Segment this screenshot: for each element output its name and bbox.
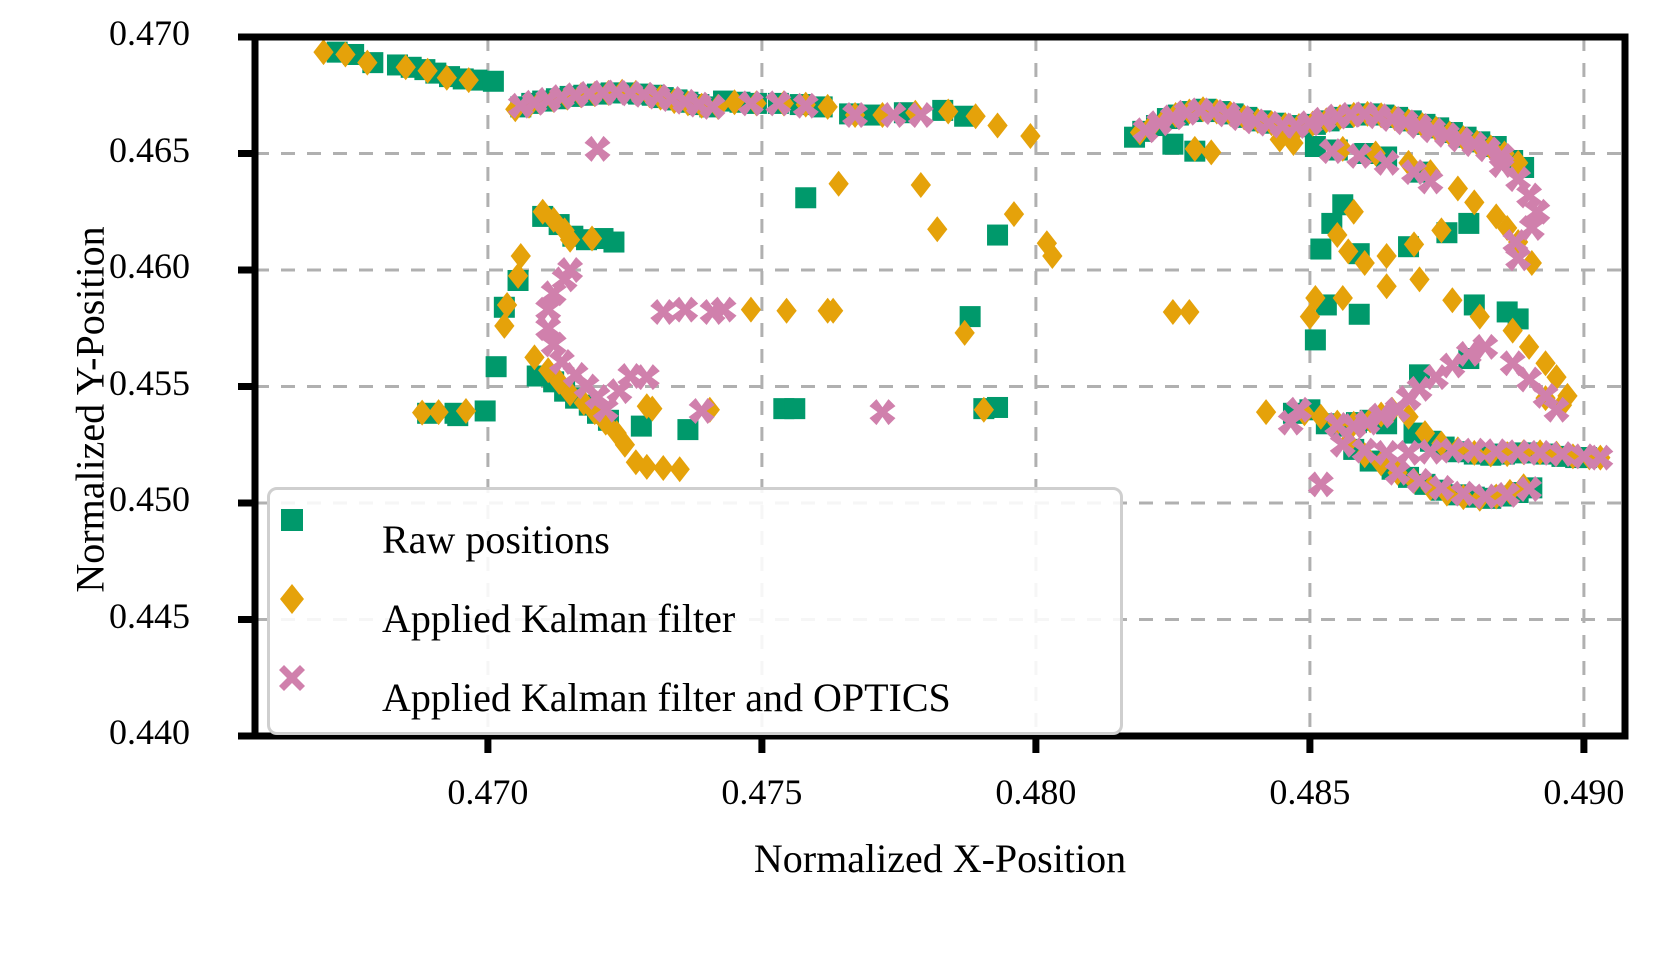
x-tick-label: 0.475	[721, 771, 802, 813]
legend-item-2[interactable]: Applied Kalman filter and OPTICS	[270, 656, 1120, 738]
legend-item-0[interactable]: Raw positions	[270, 498, 1120, 580]
legend: Raw positionsApplied Kalman filterApplie…	[267, 487, 1123, 735]
x-tick-label: 0.480	[995, 771, 1076, 813]
legend-label: Raw positions	[382, 516, 610, 563]
legend-label: Applied Kalman filter	[382, 595, 735, 642]
x-tick-label: 0.470	[447, 771, 528, 813]
x-axis-tick-labels: 0.4700.4750.4800.4850.490	[0, 0, 1662, 962]
legend-item-1[interactable]: Applied Kalman filter	[270, 577, 1120, 659]
legend-label: Applied Kalman filter and OPTICS	[382, 674, 951, 721]
x-tick-label: 0.485	[1269, 771, 1350, 813]
x-tick-label: 0.490	[1543, 771, 1624, 813]
scatter-plot-figure: Normalized Y-Position Normalized X-Posit…	[0, 0, 1662, 962]
